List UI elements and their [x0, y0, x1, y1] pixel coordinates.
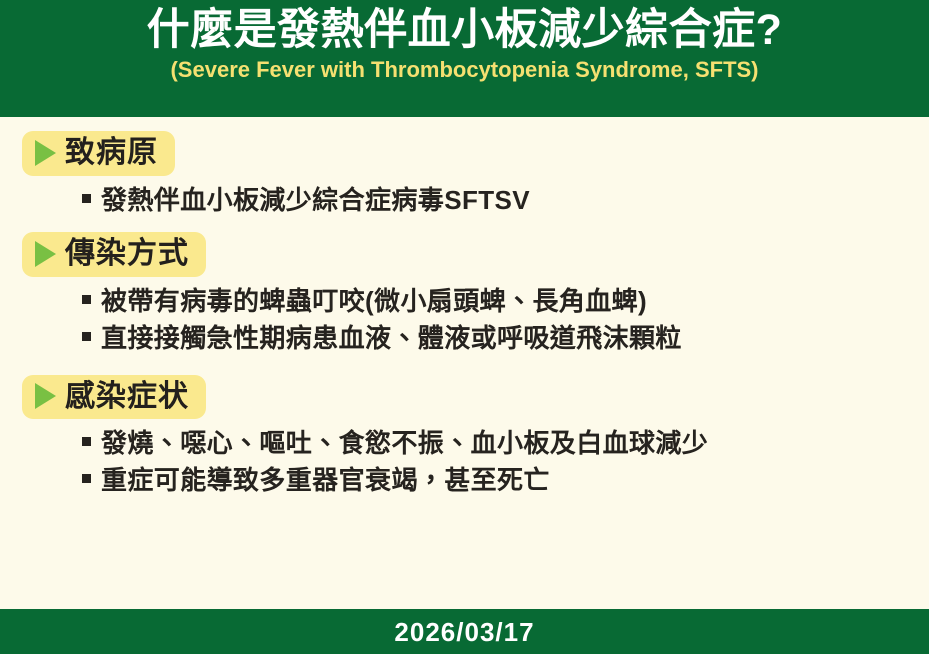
- list-item: 被帶有病毒的蜱蟲叮咬(微小扇頭蜱、長角血蜱): [82, 283, 929, 320]
- page-title: 什麼是發熱伴血小板減少綜合症?: [137, 4, 793, 56]
- page-subtitle: (Severe Fever with Thrombocytopenia Synd…: [170, 56, 758, 82]
- list-item: 直接接觸急性期病患血液、體液或呼吸道飛沫顆粒: [82, 320, 929, 357]
- list-item-text: 發燒、噁心、嘔吐、食慾不振、血小板及白血球減少: [101, 425, 708, 462]
- play-triangle-icon: [35, 383, 56, 409]
- square-bullet-icon: [82, 194, 91, 203]
- section-header-transmission: 傳染方式: [22, 232, 206, 277]
- section-title-pathogen: 致病原: [65, 137, 158, 169]
- bullet-list-pathogen: 發熱伴血小板減少綜合症病毒SFTSV: [22, 180, 929, 219]
- list-item: 重症可能導致多重器官衰竭，甚至死亡: [82, 462, 929, 499]
- footer-date: 2026/03/17: [394, 619, 534, 645]
- list-item-text: 發熱伴血小板減少綜合症病毒SFTSV: [101, 182, 530, 219]
- bullet-list-symptoms: 發燒、噁心、嘔吐、食慾不振、血小板及白血球減少 重症可能導致多重器官衰竭，甚至死…: [22, 423, 929, 499]
- list-item: 發燒、噁心、嘔吐、食慾不振、血小板及白血球減少: [82, 425, 929, 462]
- list-item-text: 重症可能導致多重器官衰竭，甚至死亡: [101, 462, 550, 499]
- square-bullet-icon: [82, 295, 91, 304]
- section-symptoms: 感染症状 發燒、噁心、嘔吐、食慾不振、血小板及白血球減少 重症可能導致多重器官衰…: [0, 375, 929, 499]
- play-triangle-icon: [35, 241, 56, 267]
- section-header-symptoms: 感染症状: [22, 375, 206, 420]
- list-item-text: 被帶有病毒的蜱蟲叮咬(微小扇頭蜱、長角血蜱): [101, 283, 647, 320]
- square-bullet-icon: [82, 437, 91, 446]
- section-title-symptoms: 感染症状: [65, 381, 189, 413]
- section-pathogen: 致病原 發熱伴血小板減少綜合症病毒SFTSV: [0, 131, 929, 218]
- footer-banner: 2026/03/17: [0, 609, 929, 654]
- section-header-pathogen: 致病原: [22, 131, 175, 176]
- square-bullet-icon: [82, 474, 91, 483]
- content-area: 致病原 發熱伴血小板減少綜合症病毒SFTSV 傳染方式 被帶有病毒的蜱蟲叮咬(微…: [0, 117, 929, 609]
- header-banner: 什麼是發熱伴血小板減少綜合症? (Severe Fever with Throm…: [0, 0, 929, 117]
- bullet-list-transmission: 被帶有病毒的蜱蟲叮咬(微小扇頭蜱、長角血蜱) 直接接觸急性期病患血液、體液或呼吸…: [22, 281, 929, 357]
- list-item-text: 直接接觸急性期病患血液、體液或呼吸道飛沫顆粒: [101, 320, 682, 357]
- section-transmission: 傳染方式 被帶有病毒的蜱蟲叮咬(微小扇頭蜱、長角血蜱) 直接接觸急性期病患血液、…: [0, 232, 929, 356]
- play-triangle-icon: [35, 140, 56, 166]
- square-bullet-icon: [82, 332, 91, 341]
- list-item: 發熱伴血小板減少綜合症病毒SFTSV: [82, 182, 929, 219]
- infographic-poster: 什麼是發熱伴血小板減少綜合症? (Severe Fever with Throm…: [0, 0, 929, 654]
- section-title-transmission: 傳染方式: [65, 238, 189, 270]
